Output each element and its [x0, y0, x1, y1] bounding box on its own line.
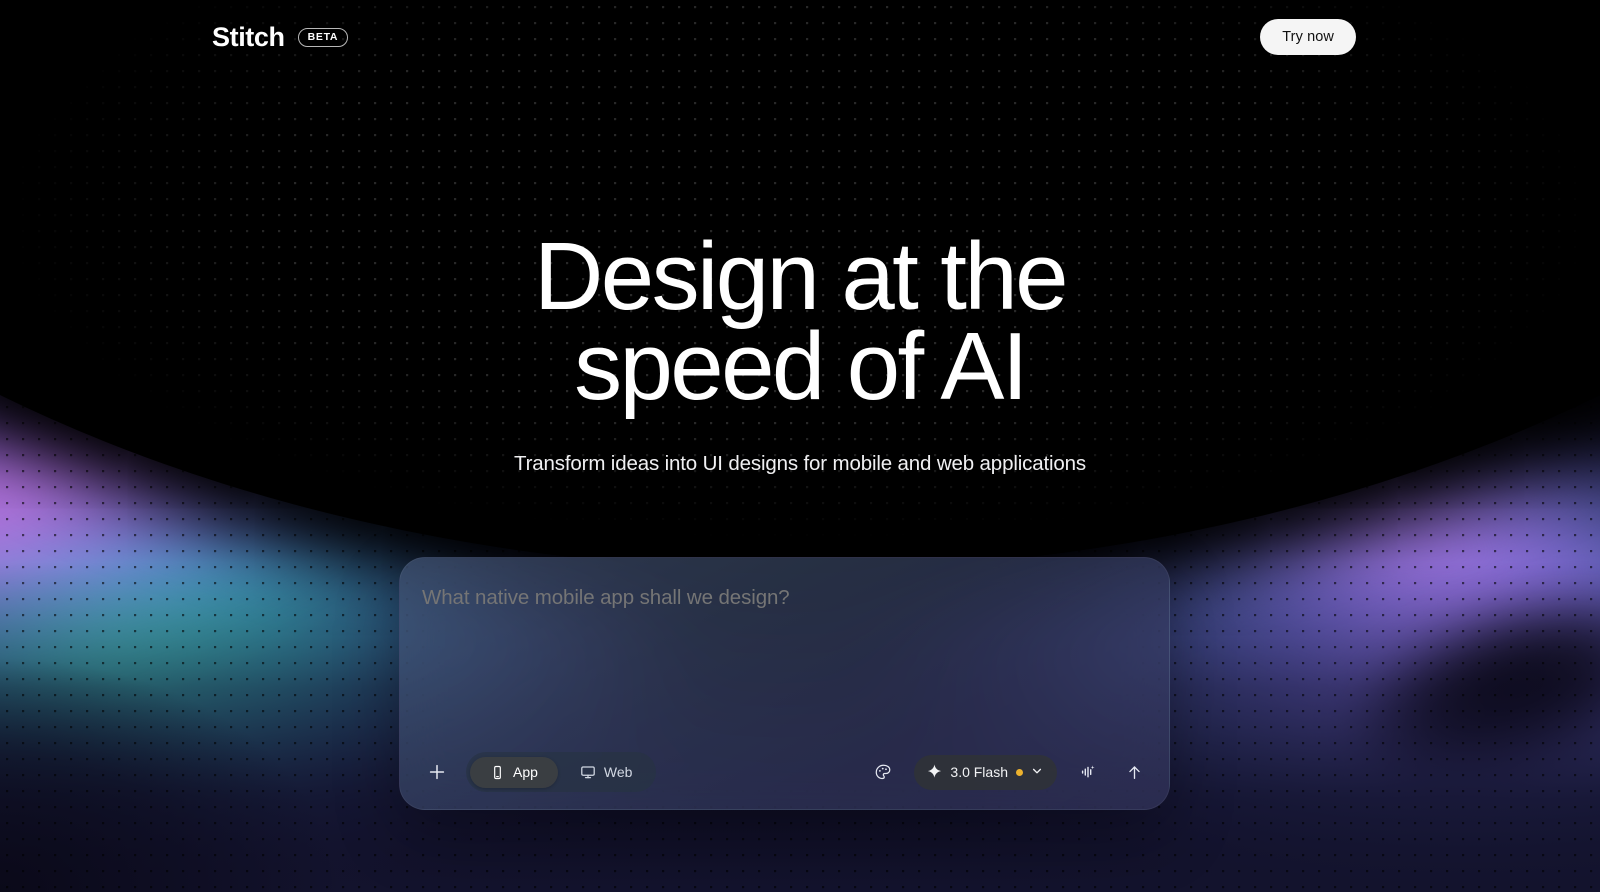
plus-icon — [427, 762, 447, 782]
segment-web[interactable]: Web — [560, 756, 653, 788]
prompt-card: App Web — [399, 557, 1170, 810]
send-button[interactable] — [1119, 757, 1149, 787]
landing-page: Stitch BETA Try now Design at the speed … — [0, 0, 1600, 892]
segment-web-label: Web — [604, 765, 633, 779]
hero-title-line-2: speed of AI — [574, 313, 1026, 420]
prompt-input[interactable] — [422, 584, 1145, 639]
add-attachment-button[interactable] — [422, 757, 452, 787]
gradient-void-right — [1278, 524, 1600, 857]
brand-logo[interactable]: Stitch BETA — [212, 24, 348, 51]
hero-section: Design at the speed of AI Transform idea… — [0, 232, 1600, 476]
dark-sky-crescent — [0, 0, 1600, 570]
page-title: Design at the speed of AI — [520, 232, 1080, 412]
palette-icon — [874, 763, 893, 782]
model-status-dot — [1016, 769, 1023, 776]
monitor-icon — [580, 764, 596, 780]
theme-palette-button[interactable] — [868, 757, 898, 787]
toolbar-left-group: App Web — [422, 752, 656, 792]
prompt-toolbar: App Web — [400, 735, 1169, 809]
sparkle-icon — [927, 764, 942, 781]
audio-waveform-icon — [1078, 762, 1098, 782]
platform-toggle[interactable]: App Web — [466, 752, 656, 792]
model-name: 3.0 Flash — [950, 765, 1008, 779]
voice-input-button[interactable] — [1073, 757, 1103, 787]
toolbar-right-group: 3.0 Flash — [868, 755, 1149, 790]
brand-name: Stitch — [212, 24, 285, 51]
segment-app-label: App — [513, 765, 538, 779]
segment-app[interactable]: App — [470, 757, 558, 788]
hero-subtitle: Transform ideas into UI designs for mobi… — [0, 452, 1600, 476]
beta-badge: BETA — [298, 28, 349, 47]
phone-icon — [490, 765, 505, 780]
model-selector[interactable]: 3.0 Flash — [914, 755, 1057, 790]
hero-title-line-1: Design at the — [534, 223, 1066, 330]
arrow-up-icon — [1125, 763, 1144, 782]
prompt-input-area[interactable] — [400, 558, 1169, 735]
site-header: Stitch BETA Try now — [0, 0, 1600, 74]
try-now-button[interactable]: Try now — [1260, 19, 1356, 55]
chevron-down-icon — [1031, 765, 1043, 779]
